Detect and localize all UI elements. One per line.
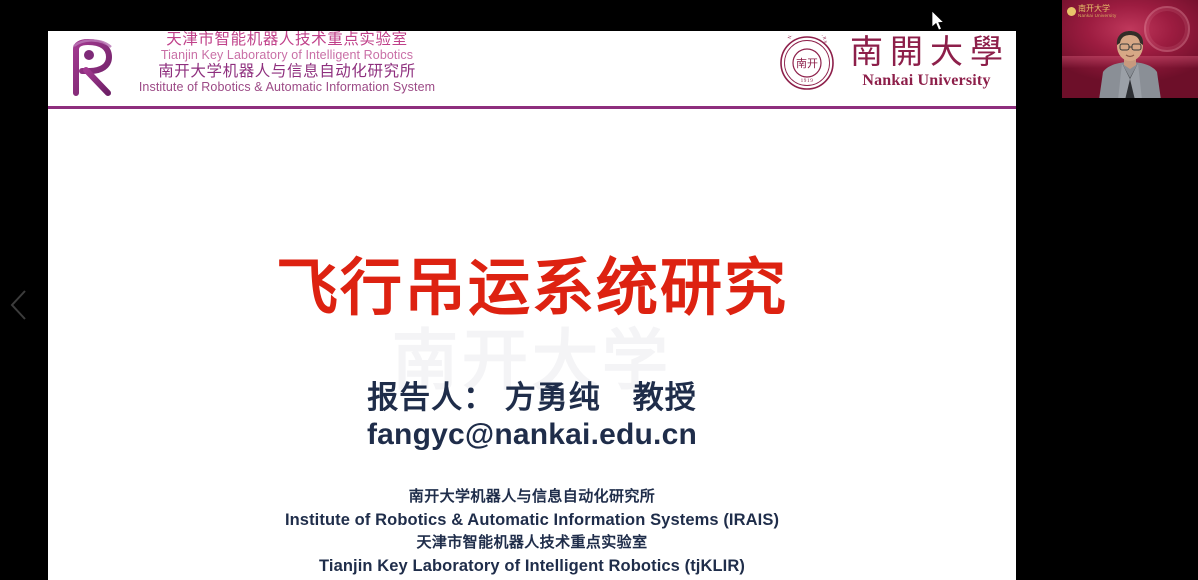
svg-text:南开: 南开 [796,57,818,70]
university-name-block: 南開大學 Nankai University [843,36,1010,90]
slide-canvas: 天津市智能机器人技术重点实验室 Tianjin Key Laboratory o… [48,31,1016,580]
institute-r-logo-icon [62,35,122,103]
svg-text:1919: 1919 [801,78,814,84]
lab-name-cn-line-2: 南开大学机器人与信息自动化研究所 [122,64,452,81]
svg-text:NANKAI UNIVERSITY: NANKAI UNIVERSITY [779,35,828,44]
presenter-email: fangyc@nankai.edu.cn [48,418,1016,452]
slide-header: 天津市智能机器人技术重点实验室 Tianjin Key Laboratory o… [48,31,1016,107]
university-brand-block: NANKAI UNIVERSITY 南开 1919 南開大學 Nankai Un… [779,35,1010,91]
chevron-left-icon [8,288,30,322]
presenter-line: 报告人： 方勇纯 教授 [48,372,1016,417]
participant-video-tile[interactable]: 南开大学 Nankai University [1062,0,1198,98]
university-name-cn: 南開大學 [843,36,1010,71]
affiliation-line-3: 天津市智能机器人技术重点实验室 [48,532,1016,555]
slide-title: 飞行吊运系统研究 [48,258,1016,320]
video-logo-subtext: Nankai University [1078,13,1116,18]
mouse-pointer-icon [931,11,945,31]
lab-name-cn-line-1: 天津市智能机器人技术重点实验室 [122,32,452,49]
lab-name-en-line-2: Institute of Robotics & Automatic Inform… [122,81,452,95]
affiliation-line-1: 南开大学机器人与信息自动化研究所 [48,486,1016,509]
nankai-university-seal-icon: NANKAI UNIVERSITY 南开 1919 [779,35,835,91]
laboratory-name-block: 天津市智能机器人技术重点实验室 Tianjin Key Laboratory o… [122,32,452,94]
affiliation-block: 南开大学机器人与信息自动化研究所 Institute of Robotics &… [48,486,1016,579]
participant-video-icon [1091,28,1169,98]
video-logo-mark-icon [1067,7,1076,16]
video-overlay-logo: 南开大学 Nankai University [1067,5,1116,18]
lab-name-en-line-1: Tianjin Key Laboratory of Intelligent Ro… [122,49,452,63]
slide-body: 南开大学 飞行吊运系统研究 报告人： 方勇纯 教授 fangyc@nankai.… [48,107,1016,580]
affiliation-line-2: Institute of Robotics & Automatic Inform… [48,509,1016,533]
previous-slide-button[interactable] [8,288,30,322]
affiliation-line-4: Tianjin Key Laboratory of Intelligent Ro… [48,555,1016,579]
university-name-en: Nankai University [862,72,990,90]
screen-share-view: 天津市智能机器人技术重点实验室 Tianjin Key Laboratory o… [0,0,1198,580]
video-logo-text: 南开大学 [1078,5,1116,13]
